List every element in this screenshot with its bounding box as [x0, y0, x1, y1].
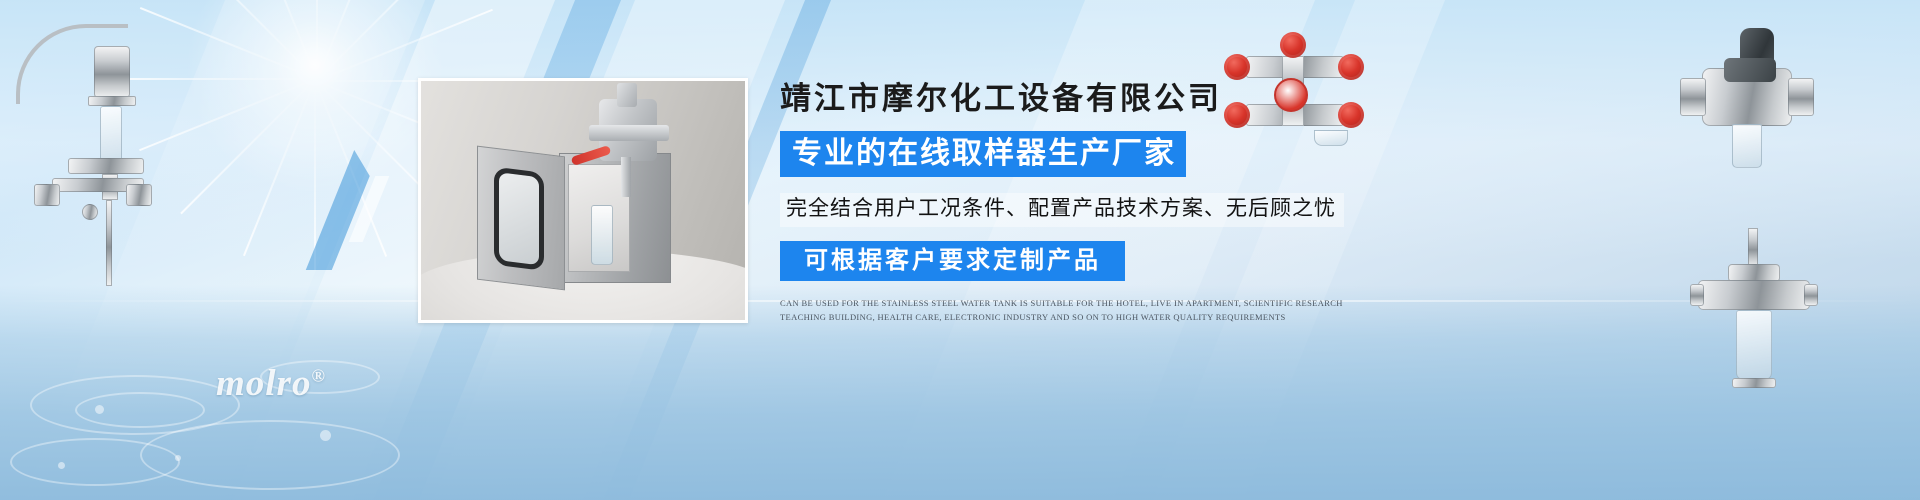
water-ripple — [30, 375, 240, 435]
photo-valve-flange — [589, 125, 669, 141]
photo-cabinet-door — [477, 146, 565, 291]
water-ripple — [10, 438, 180, 486]
equipment-sampler-with-bottle — [1690, 228, 1820, 393]
photo-pipe — [621, 157, 631, 197]
water-bubble — [95, 405, 104, 414]
water-ripple — [75, 392, 205, 428]
watermark-text: molro — [216, 363, 311, 404]
main-tagline-highlight: 专业的在线取样器生产厂家 — [780, 131, 1186, 178]
equipment-left-sampling-assembly — [8, 18, 168, 293]
feature-description: 完全结合用户工况条件、配置产品技术方案、无后顾之忧 — [780, 193, 1344, 226]
water-bubble — [58, 462, 65, 469]
water-ripple — [140, 420, 400, 490]
company-name: 靖江市摩尔化工设备有限公司 — [780, 80, 1480, 119]
product-photo — [418, 78, 748, 323]
customization-badge: 可根据客户要求定制产品 — [780, 241, 1125, 282]
watermark-logo: molro® — [216, 362, 326, 405]
equipment-gear-valve-body — [1680, 28, 1820, 178]
registered-mark-icon: ® — [311, 366, 325, 386]
water-bubble — [175, 455, 181, 461]
banner-text-block: 靖江市摩尔化工设备有限公司 专业的在线取样器生产厂家 完全结合用户工况条件、配置… — [780, 80, 1480, 325]
photo-valve-stem — [617, 83, 637, 107]
water-bubble — [320, 430, 331, 441]
promotional-banner: 靖江市摩尔化工设备有限公司 专业的在线取样器生产厂家 完全结合用户工况条件、配置… — [0, 0, 1920, 500]
photo-door-window — [494, 167, 544, 271]
photo-sample-bottle — [591, 205, 613, 265]
photo-cabinet-body — [559, 153, 671, 283]
english-description: CAN BE USED FOR THE STAINLESS STEEL WATE… — [780, 297, 1380, 325]
